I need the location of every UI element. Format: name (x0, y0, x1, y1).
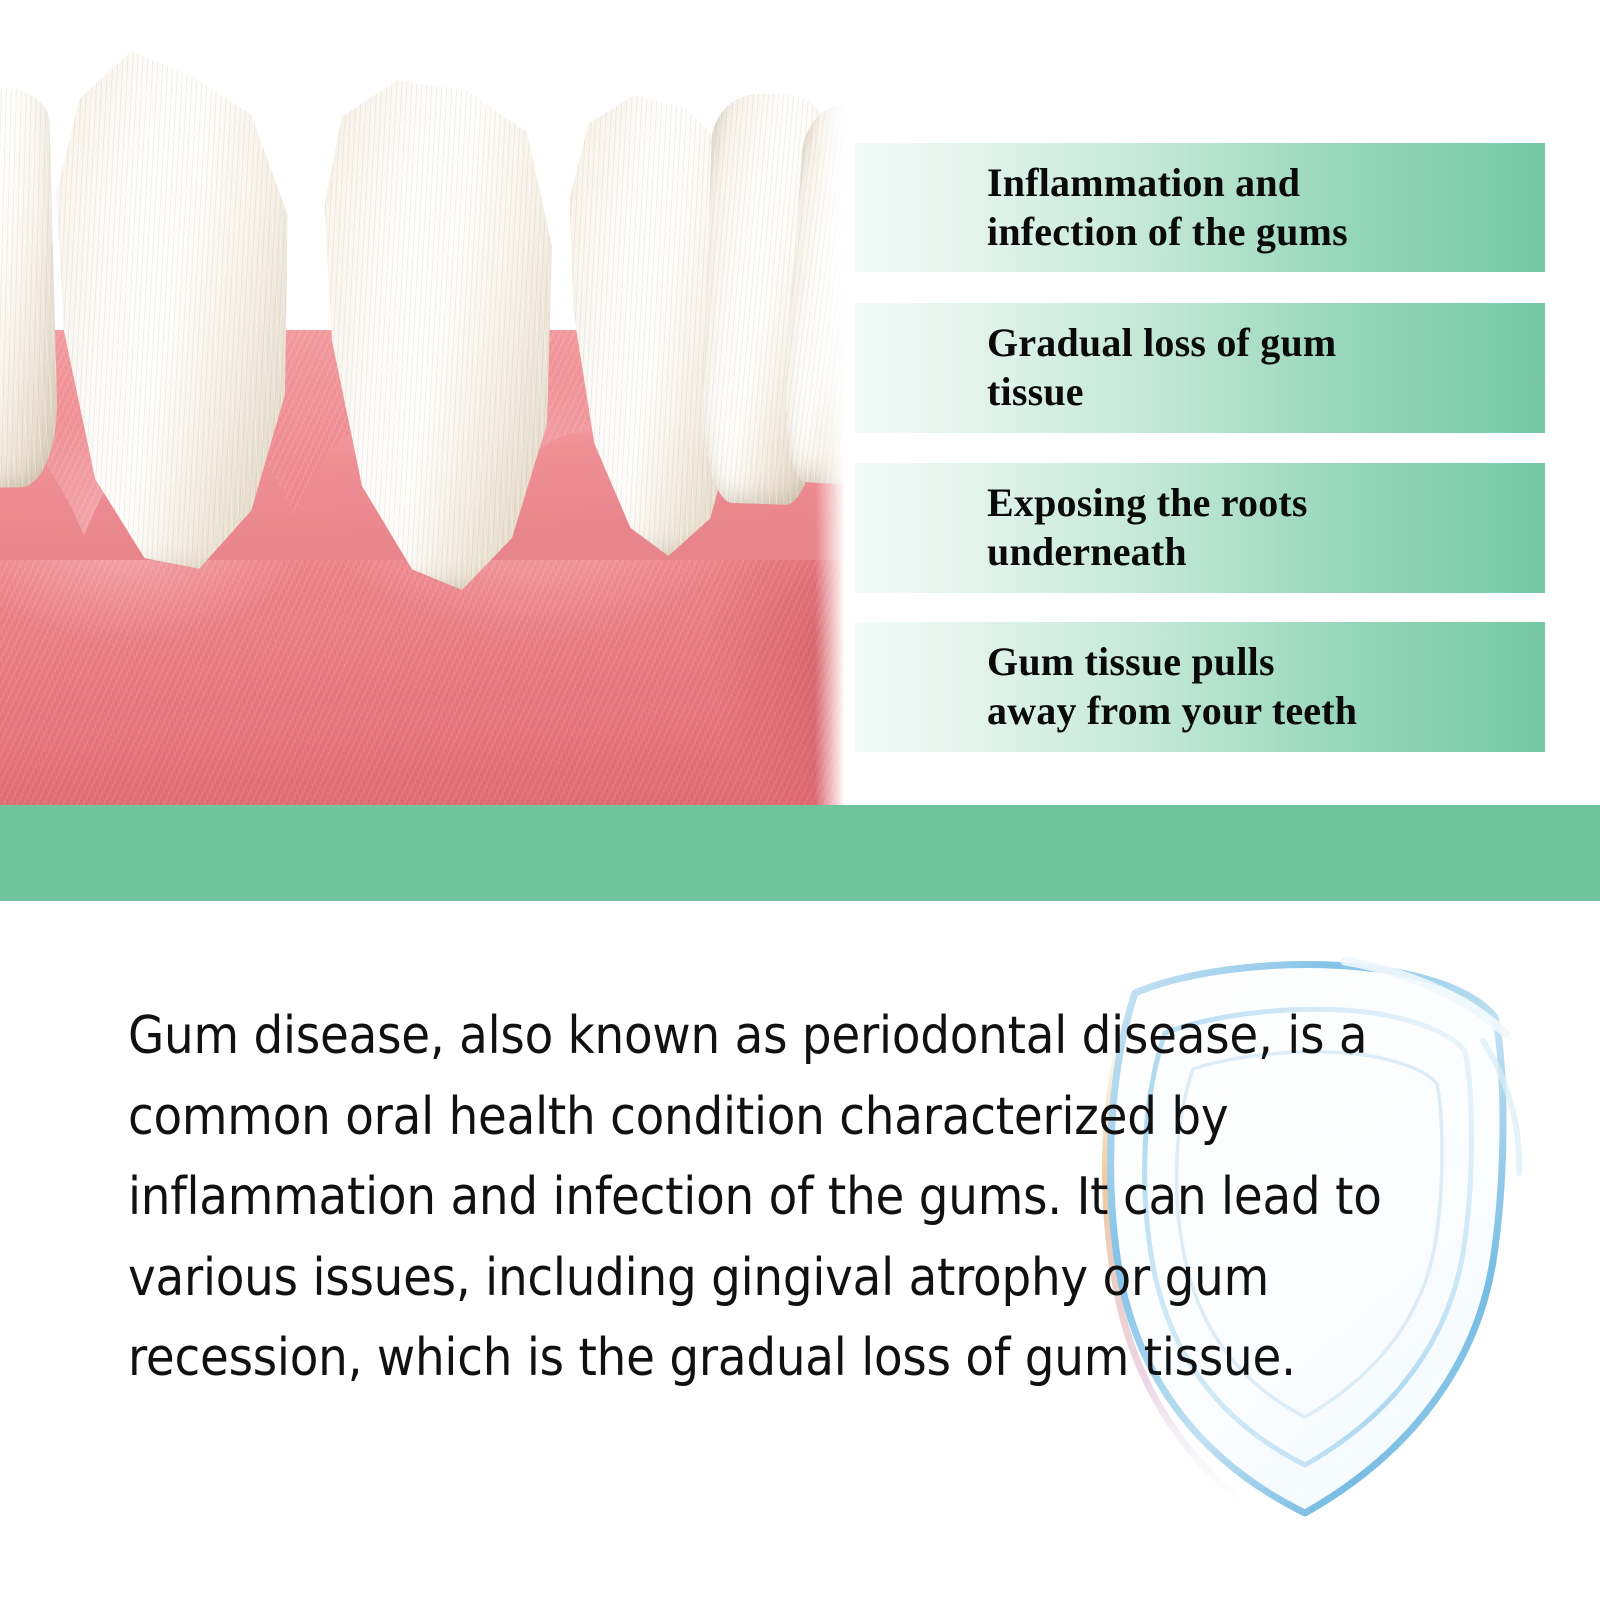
key-points-list: Inflammation and infection of the gums G… (0, 0, 1600, 805)
key-point-text-2: Gradual loss of gum tissue (855, 319, 1336, 417)
key-point-band-2[interactable]: Gradual loss of gum tissue (855, 303, 1545, 433)
key-point-band-3[interactable]: Exposing the roots underneath (855, 463, 1545, 593)
description-paragraph: Gum disease, also known as periodontal d… (128, 996, 1483, 1399)
key-point-text-1: Inflammation and infection of the gums (855, 159, 1348, 257)
hero-section: Inflammation and infection of the gums G… (0, 0, 1600, 805)
description-section: Gum disease, also known as periodontal d… (0, 901, 1600, 1600)
infographic-page: Inflammation and infection of the gums G… (0, 0, 1600, 1600)
key-point-band-1[interactable]: Inflammation and infection of the gums (855, 143, 1545, 272)
green-divider-bar (0, 805, 1600, 901)
key-point-band-4[interactable]: Gum tissue pulls away from your teeth (855, 622, 1545, 752)
key-point-text-3: Exposing the roots underneath (855, 479, 1308, 577)
key-point-text-4: Gum tissue pulls away from your teeth (855, 638, 1357, 736)
